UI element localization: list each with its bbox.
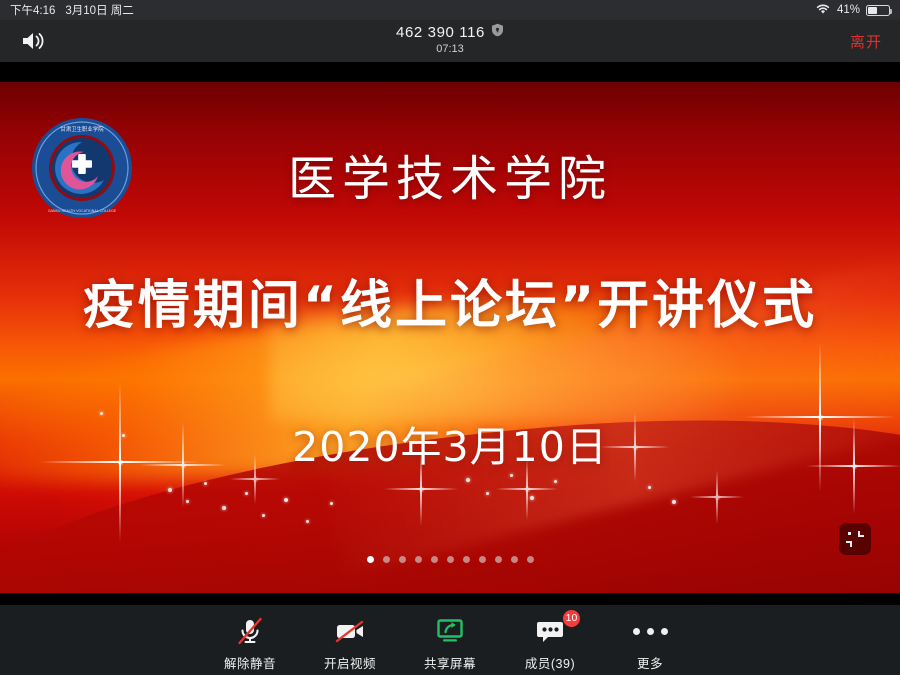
- more-dots-icon: [633, 614, 668, 648]
- zoom-meeting-screen: 下午4:16 3月10日 周二 41%: [0, 0, 900, 675]
- sparkle-speck: [245, 492, 248, 495]
- meeting-toolbar: 解除静音 开启视频 共享屏幕: [0, 605, 900, 675]
- unmute-button[interactable]: 解除静音: [200, 614, 300, 672]
- presentation-slide: 甘肃卫生职业学院 GANSU HEALTH VOCATIONAL COLLEGE…: [0, 82, 900, 595]
- page-dot[interactable]: [383, 556, 390, 563]
- meeting-info: 462 390 116 07:13: [0, 23, 900, 56]
- participants-chat-icon: [535, 614, 565, 648]
- page-dot[interactable]: [399, 556, 406, 563]
- wifi-icon: [815, 3, 831, 18]
- meeting-id-label: 462 390 116: [396, 24, 485, 41]
- screen-share-icon: [434, 614, 466, 648]
- share-screen-label: 共享屏幕: [424, 653, 476, 672]
- status-bar-time: 下午4:16: [10, 2, 55, 18]
- status-bar-date: 3月10日 周二: [65, 2, 133, 18]
- sparkle-speck: [222, 506, 226, 510]
- sparkle-speck: [186, 500, 189, 503]
- microphone-muted-icon: [234, 614, 266, 648]
- page-dot[interactable]: [431, 556, 438, 563]
- battery-fill: [868, 7, 877, 14]
- more-label: 更多: [637, 653, 663, 672]
- shared-screen-area[interactable]: 甘肃卫生职业学院 GANSU HEALTH VOCATIONAL COLLEGE…: [0, 62, 900, 605]
- sparkle-speck: [672, 500, 676, 504]
- sparkle-speck: [466, 478, 470, 482]
- sparkle-speck: [204, 482, 207, 485]
- page-dot[interactable]: [463, 556, 470, 563]
- ios-status-bar: 下午4:16 3月10日 周二 41%: [0, 0, 900, 20]
- svg-text:GANSU HEALTH VOCATIONAL COLLEG: GANSU HEALTH VOCATIONAL COLLEGE: [48, 209, 116, 213]
- shield-icon: [491, 23, 504, 41]
- minimize-share-icon[interactable]: [839, 523, 871, 555]
- svg-text:甘肃卫生职业学院: 甘肃卫生职业学院: [60, 125, 104, 133]
- unmute-label: 解除静音: [224, 653, 276, 672]
- battery-percent-label: 41%: [837, 4, 860, 16]
- status-bar-right: 41%: [815, 3, 890, 18]
- sparkle-speck: [262, 514, 265, 517]
- start-video-button[interactable]: 开启视频: [300, 614, 400, 672]
- sparkle-speck: [284, 498, 288, 502]
- page-dot[interactable]: [479, 556, 486, 563]
- share-screen-button[interactable]: 共享屏幕: [400, 614, 500, 672]
- slide-date: 2020年3月10日: [0, 413, 900, 473]
- battery-icon: [866, 5, 890, 16]
- camera-off-icon: [333, 614, 367, 648]
- meeting-elapsed-time: 07:13: [0, 43, 900, 56]
- sparkle-speck: [648, 486, 651, 489]
- sparkle-speck: [530, 496, 534, 500]
- start-video-label: 开启视频: [324, 653, 376, 672]
- meeting-id-row: 462 390 116: [396, 23, 504, 41]
- meeting-header-bar: 462 390 116 07:13 离开: [0, 20, 900, 62]
- toolbar-separator: [0, 593, 900, 605]
- page-dot[interactable]: [527, 556, 534, 563]
- participants-badge: 10: [563, 610, 580, 627]
- slide-title: 疫情期间“线上论坛”开讲仪式: [0, 263, 900, 338]
- page-dot[interactable]: [511, 556, 518, 563]
- sparkle-speck: [168, 488, 172, 492]
- slide-page-dots[interactable]: [0, 556, 900, 563]
- page-dot[interactable]: [447, 556, 454, 563]
- slide-heading: 医学技术学院: [0, 139, 900, 209]
- status-bar-left: 下午4:16 3月10日 周二: [10, 2, 134, 18]
- more-button[interactable]: 更多: [600, 614, 700, 672]
- page-dot[interactable]: [415, 556, 422, 563]
- participants-label: 成员(39): [525, 653, 575, 672]
- page-dot[interactable]: [367, 556, 374, 563]
- sparkle-speck: [486, 492, 489, 495]
- page-dot[interactable]: [495, 556, 502, 563]
- leave-meeting-button[interactable]: 离开: [850, 31, 882, 52]
- sparkle-speck: [306, 520, 309, 523]
- sparkle-speck: [330, 502, 333, 505]
- sparkle-speck: [554, 480, 557, 483]
- participants-button[interactable]: 10 成员(39): [500, 614, 600, 672]
- sparkle-speck: [510, 474, 513, 477]
